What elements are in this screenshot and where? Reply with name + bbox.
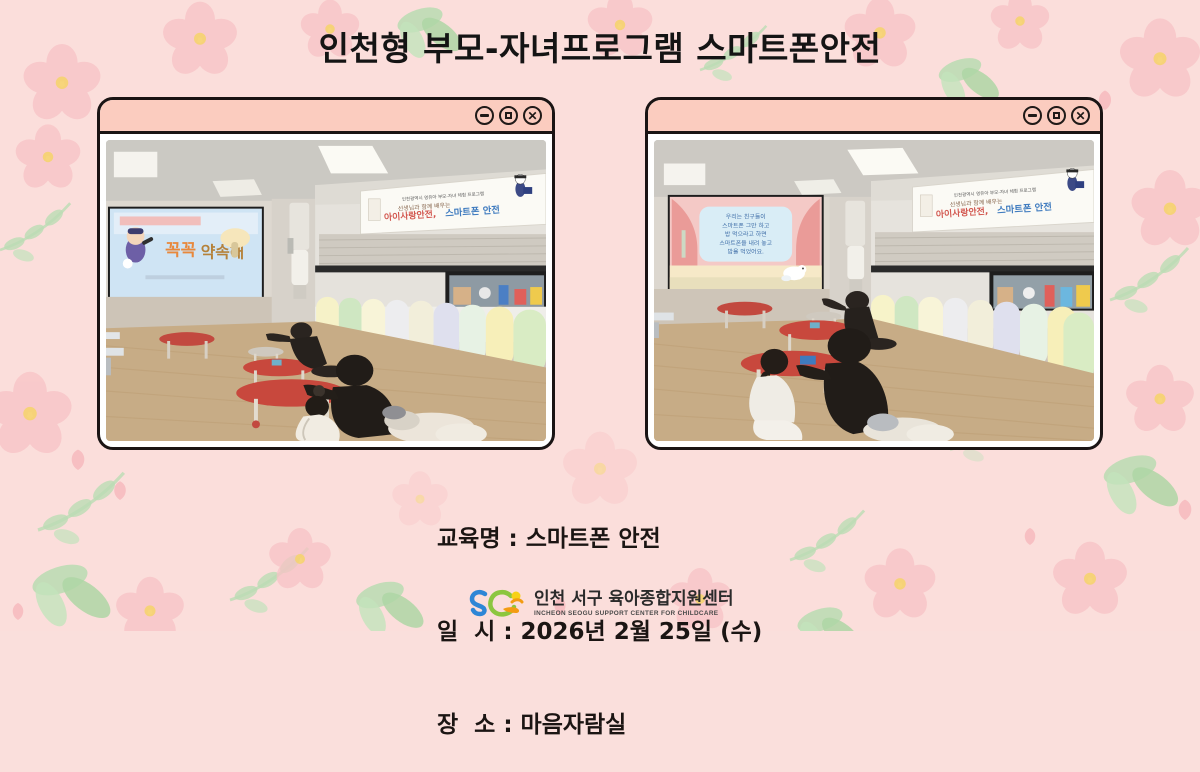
maximize-icon[interactable]	[1047, 106, 1066, 125]
svg-text:밥 먹으라고 하면: 밥 먹으라고 하면	[725, 230, 767, 238]
photo-left: 꼭꼭 약속해 인천광역시 영유아 부모-자녀 체험 프로그램 선생님과 함께 배…	[106, 140, 546, 441]
minimize-icon[interactable]	[1023, 106, 1042, 125]
window-controls-left: ✕	[475, 106, 542, 125]
photo-window-right: ✕ 우리는 친구들이 스마트폰 그만 하고 밥 먹으라	[645, 97, 1103, 450]
window-controls-right: ✕	[1023, 106, 1090, 125]
organization-logo: 인천 서구 육아종합지원센터 INCHEON SEOGU SUPPORT CEN…	[468, 587, 734, 621]
logo-text: 인천 서구 육아종합지원센터 INCHEON SEOGU SUPPORT CEN…	[534, 590, 734, 618]
svg-text:꼭꼭: 꼭꼭	[165, 240, 196, 260]
svg-text:스마트폰 그만 하고: 스마트폰 그만 하고	[722, 221, 770, 229]
window-title-bar-right: ✕	[648, 100, 1100, 134]
minimize-icon[interactable]	[475, 106, 494, 125]
logo-korean-name: 인천 서구 육아종합지원센터	[534, 590, 734, 609]
info-line-date: 일 시 : 2026년 2월 25일 (수)	[437, 617, 762, 648]
svg-text:우리는 친구들이: 우리는 친구들이	[726, 212, 766, 220]
info-line-place: 장 소 : 마음자람실	[437, 710, 762, 741]
logo-english-name: INCHEON SEOGU SUPPORT CENTER FOR CHILDCA…	[534, 609, 734, 618]
maximize-icon[interactable]	[499, 106, 518, 125]
photo-window-left: ✕ 꼭꼭 약속해	[97, 97, 555, 450]
close-icon[interactable]: ✕	[523, 106, 542, 125]
info-line-program: 교육명 : 스마트폰 안전	[437, 524, 762, 555]
svg-text:밥을 먹었어요.: 밥을 먹었어요.	[728, 248, 765, 256]
page-title: 인천형 부모-자녀프로그램 스마트폰안전	[0, 22, 1200, 70]
svg-text:스마트폰을 내려 놓고: 스마트폰을 내려 놓고	[719, 239, 772, 247]
window-title-bar-left: ✕	[100, 100, 552, 134]
photo-right: 우리는 친구들이 스마트폰 그만 하고 밥 먹으라고 하면 스마트폰을 내려 놓…	[654, 140, 1094, 441]
close-icon[interactable]: ✕	[1071, 106, 1090, 125]
sc-childcare-logo-mark-icon	[468, 587, 526, 621]
